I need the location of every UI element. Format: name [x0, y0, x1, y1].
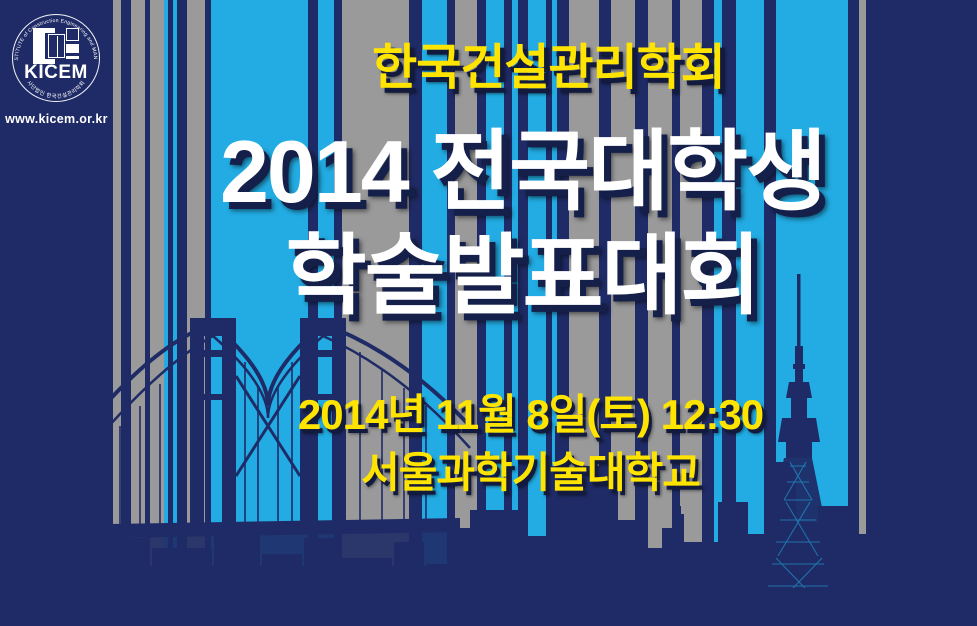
poster-title-line-1: 2014 전국대학생: [0, 128, 977, 216]
organization-line: 한국건설관리학회: [0, 44, 977, 93]
event-datetime: 2014년 11월 8일(토) 12:30: [0, 394, 977, 436]
poster-text-layer: 한국건설관리학회 2014 전국대학생 학술발표대회 2014년 11월 8일(…: [0, 0, 977, 626]
poster-title-line-2: 학술발표대회: [0, 232, 977, 320]
event-venue: 서울과학기술대학교: [0, 452, 977, 494]
poster-canvas: KOREA INSTITUTE of Construction Engineer…: [0, 0, 977, 626]
